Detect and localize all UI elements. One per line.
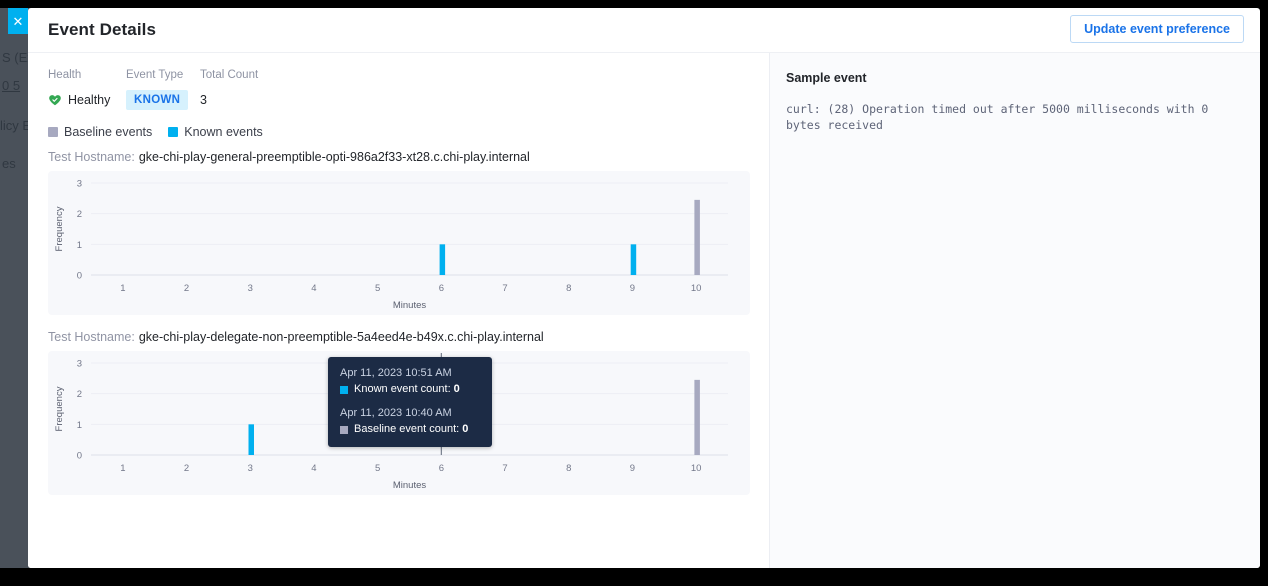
meta-health-value: Healthy — [68, 93, 110, 107]
svg-text:Minutes: Minutes — [393, 480, 427, 491]
legend-swatch-known-icon — [168, 127, 178, 137]
tooltip-row-baseline: Baseline event count: 0 — [340, 422, 480, 437]
svg-text:3: 3 — [248, 283, 253, 294]
tooltip-label-known: Known event count: — [354, 382, 451, 397]
host-label-value: gke-chi-play-delegate-non-preemptible-5a… — [139, 330, 544, 344]
legend-label-known: Known events — [184, 125, 263, 139]
svg-text:7: 7 — [502, 463, 507, 474]
bar-chart-1[interactable]: 0123Frequency12345678910Minutes — [48, 171, 750, 315]
svg-text:3: 3 — [77, 179, 82, 190]
background-text-fragment: 0 5 — [2, 78, 20, 93]
svg-text:5: 5 — [375, 283, 380, 294]
svg-text:6: 6 — [439, 283, 444, 294]
tooltip-swatch-known-icon — [340, 386, 348, 394]
chart-tooltip: Apr 11, 2023 10:51 AM Known event count:… — [328, 357, 492, 447]
chart-card-2[interactable]: 0123Frequency12345678910Minutes Apr 11, … — [48, 351, 750, 495]
modal-header: Event Details Update event preference — [28, 8, 1260, 53]
host-label-row-1: Test Hostname:gke-chi-play-general-preem… — [48, 149, 749, 165]
svg-text:9: 9 — [630, 463, 635, 474]
svg-text:3: 3 — [77, 359, 82, 370]
tooltip-row-known: Known event count: 0 — [340, 382, 480, 397]
host-label-key: Test Hostname: — [48, 150, 135, 164]
left-pane: Health Healthy Event Type — [28, 53, 769, 568]
svg-text:4: 4 — [311, 283, 316, 294]
svg-text:8: 8 — [566, 463, 571, 474]
tooltip-time-1: Apr 11, 2023 10:51 AM — [340, 366, 480, 381]
svg-text:2: 2 — [77, 209, 82, 220]
legend-item-known[interactable]: Known events — [168, 125, 263, 139]
svg-text:7: 7 — [502, 283, 507, 294]
chart-card-1[interactable]: 0123Frequency12345678910Minutes — [48, 171, 750, 315]
background-text-fragment: es — [2, 156, 16, 171]
background-text-fragment: licy E — [0, 118, 31, 133]
event-details-modal: Event Details Update event preference He… — [28, 8, 1260, 568]
close-icon[interactable]: ✕ — [8, 8, 28, 34]
page-title: Event Details — [48, 20, 156, 40]
svg-text:3: 3 — [248, 463, 253, 474]
svg-text:0: 0 — [77, 451, 82, 462]
svg-text:Minutes: Minutes — [393, 300, 427, 311]
meta-health-value-wrap: Healthy — [48, 89, 126, 111]
legend-label-baseline: Baseline events — [64, 125, 152, 139]
svg-text:10: 10 — [691, 283, 702, 294]
svg-text:2: 2 — [184, 463, 189, 474]
svg-text:1: 1 — [77, 240, 82, 251]
svg-text:Frequency: Frequency — [54, 206, 65, 251]
svg-text:1: 1 — [120, 463, 125, 474]
meta-health-label: Health — [48, 69, 126, 81]
tooltip-swatch-baseline-icon — [340, 426, 348, 434]
tooltip-value-baseline: 0 — [462, 422, 468, 437]
host-label-row-2: Test Hostname:gke-chi-play-delegate-non-… — [48, 329, 749, 345]
meta-event-type-value-wrap: KNOWN — [126, 89, 200, 111]
legend-item-baseline[interactable]: Baseline events — [48, 125, 152, 139]
sample-event-text: curl: (28) Operation timed out after 500… — [786, 101, 1231, 133]
tooltip-label-baseline: Baseline event count: — [354, 422, 459, 437]
svg-text:1: 1 — [120, 283, 125, 294]
host-label-key: Test Hostname: — [48, 330, 135, 344]
svg-text:0: 0 — [77, 271, 82, 282]
svg-text:4: 4 — [311, 463, 316, 474]
status-badge: KNOWN — [126, 90, 188, 110]
health-heart-check-icon — [48, 93, 62, 107]
tooltip-time-2: Apr 11, 2023 10:40 AM — [340, 406, 480, 421]
tooltip-value-known: 0 — [454, 382, 460, 397]
sample-event-title: Sample event — [786, 71, 1240, 85]
svg-text:2: 2 — [77, 389, 82, 400]
svg-text:10: 10 — [691, 463, 702, 474]
meta-event-type: Event Type KNOWN — [126, 69, 200, 111]
right-pane: Sample event curl: (28) Operation timed … — [769, 53, 1260, 568]
svg-text:2: 2 — [184, 283, 189, 294]
svg-text:5: 5 — [375, 463, 380, 474]
host-label-value: gke-chi-play-general-preemptible-opti-98… — [139, 150, 530, 164]
meta-health: Health Healthy — [48, 69, 126, 111]
meta-total-count: Total Count 3 — [200, 69, 300, 111]
svg-text:6: 6 — [439, 463, 444, 474]
meta-event-type-label: Event Type — [126, 69, 200, 81]
meta-total-count-value: 3 — [200, 89, 300, 111]
update-event-preference-button[interactable]: Update event preference — [1070, 15, 1244, 43]
meta-total-count-label: Total Count — [200, 69, 300, 81]
modal-body: Health Healthy Event Type — [28, 53, 1260, 568]
svg-text:8: 8 — [566, 283, 571, 294]
svg-text:9: 9 — [630, 283, 635, 294]
legend-swatch-baseline-icon — [48, 127, 58, 137]
svg-text:1: 1 — [77, 420, 82, 431]
svg-text:Frequency: Frequency — [54, 386, 65, 431]
chart-legend: Baseline events Known events — [48, 125, 749, 139]
event-meta-row: Health Healthy Event Type — [48, 69, 749, 111]
